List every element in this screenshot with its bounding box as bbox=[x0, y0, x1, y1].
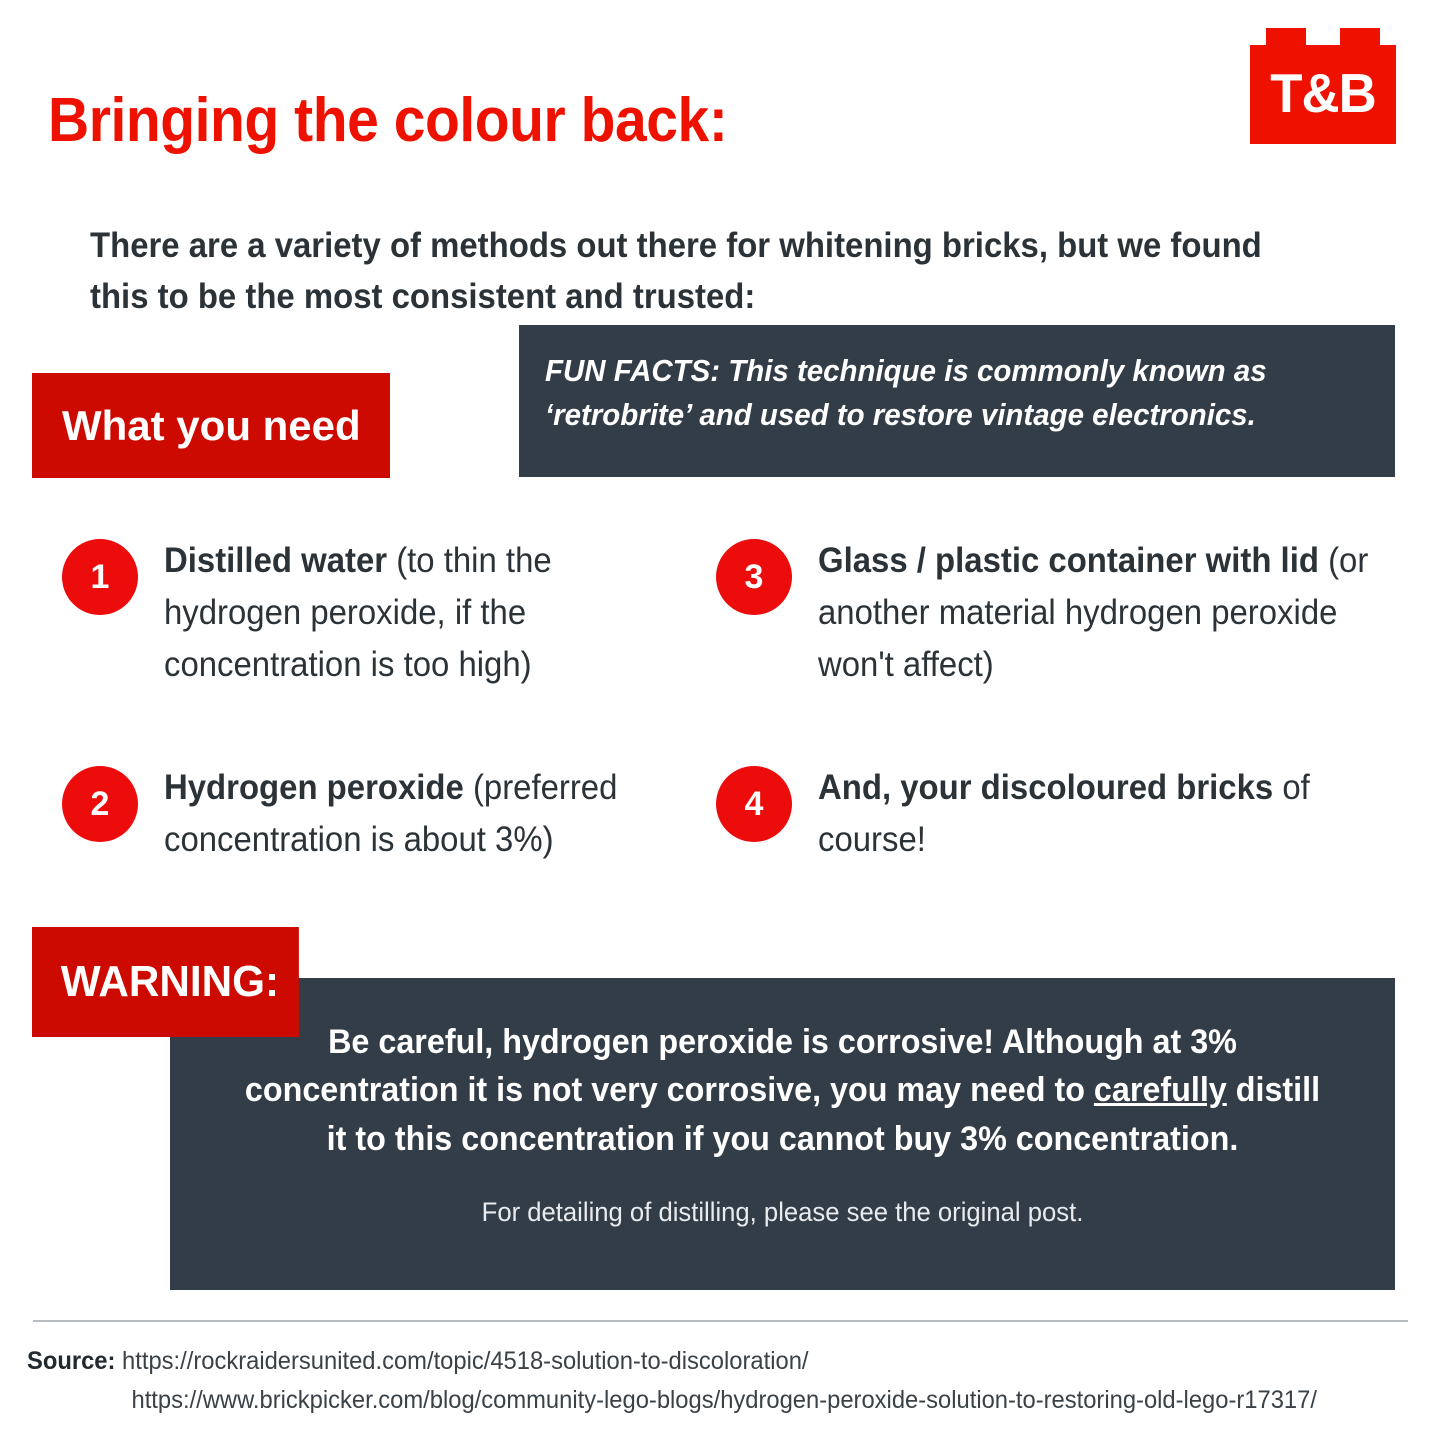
item-text: And, your discoloured bricks of course! bbox=[818, 762, 1371, 866]
item-text-bold: Distilled water bbox=[164, 541, 396, 580]
lego-brick-body-icon: T&B bbox=[1250, 45, 1396, 144]
item-text-bold: Hydrogen peroxide bbox=[164, 768, 473, 807]
intro-paragraph: There are a variety of methods out there… bbox=[90, 221, 1293, 323]
logo-text: T&B bbox=[1270, 66, 1376, 124]
fun-facts-text: FUN FACTS: This technique is commonly kn… bbox=[545, 349, 1328, 437]
list-item: 3 Glass / plastic container with lid (or… bbox=[716, 535, 1406, 690]
item-number-badge: 2 bbox=[62, 766, 138, 842]
source-url-2[interactable]: https://www.brickpicker.com/blog/communi… bbox=[132, 1386, 1317, 1414]
list-item: 2 Hydrogen peroxide (preferred concentra… bbox=[62, 762, 702, 866]
list-item: 1 Distilled water (to thin the hydrogen … bbox=[62, 535, 702, 690]
warning-badge-label: WARNING: bbox=[61, 957, 279, 1007]
warning-body-part1: Be careful, hydrogen peroxide is corrosi… bbox=[245, 1023, 1237, 1109]
source-line-1: Source: https://rockraidersunited.com/to… bbox=[27, 1342, 1357, 1381]
source-url-1[interactable]: https://rockraidersunited.com/topic/4518… bbox=[122, 1347, 808, 1375]
lego-brick-logo: T&B bbox=[1250, 28, 1396, 144]
what-you-need-badge: What you need bbox=[32, 373, 390, 478]
item-text: Distilled water (to thin the hydrogen pe… bbox=[164, 535, 670, 690]
item-number-badge: 3 bbox=[716, 539, 792, 615]
source-label: Source: bbox=[27, 1347, 115, 1375]
source-block: Source: https://rockraidersunited.com/to… bbox=[27, 1342, 1357, 1420]
list-item: 4 And, your discoloured bricks of course… bbox=[716, 762, 1406, 866]
what-you-need-label: What you need bbox=[62, 402, 361, 450]
lego-brick-studs-icon bbox=[1250, 28, 1396, 46]
lego-stud-left-icon bbox=[1266, 28, 1306, 46]
item-text: Glass / plastic container with lid (or a… bbox=[818, 535, 1371, 690]
item-text: Hydrogen peroxide (preferred concentrati… bbox=[164, 762, 670, 866]
page-title: Bringing the colour back: bbox=[48, 90, 1042, 152]
item-number-badge: 1 bbox=[62, 539, 138, 615]
warning-note-text: For detailing of distilling, please see … bbox=[239, 1197, 1327, 1228]
source-line-2: https://www.brickpicker.com/blog/communi… bbox=[27, 1381, 1357, 1420]
fun-facts-panel: FUN FACTS: This technique is commonly kn… bbox=[519, 325, 1395, 477]
warning-panel: Be careful, hydrogen peroxide is corrosi… bbox=[170, 978, 1395, 1290]
lego-stud-right-icon bbox=[1340, 28, 1380, 46]
warning-body-emphasis: carefully bbox=[1094, 1071, 1227, 1109]
item-text-bold: Glass / plastic container with lid bbox=[818, 541, 1328, 580]
warning-body-text: Be careful, hydrogen peroxide is corrosi… bbox=[239, 1018, 1327, 1163]
warning-badge: WARNING: bbox=[32, 927, 299, 1037]
item-text-bold: And, your discoloured bricks bbox=[818, 768, 1282, 807]
footer-divider bbox=[33, 1320, 1408, 1322]
item-number-badge: 4 bbox=[716, 766, 792, 842]
